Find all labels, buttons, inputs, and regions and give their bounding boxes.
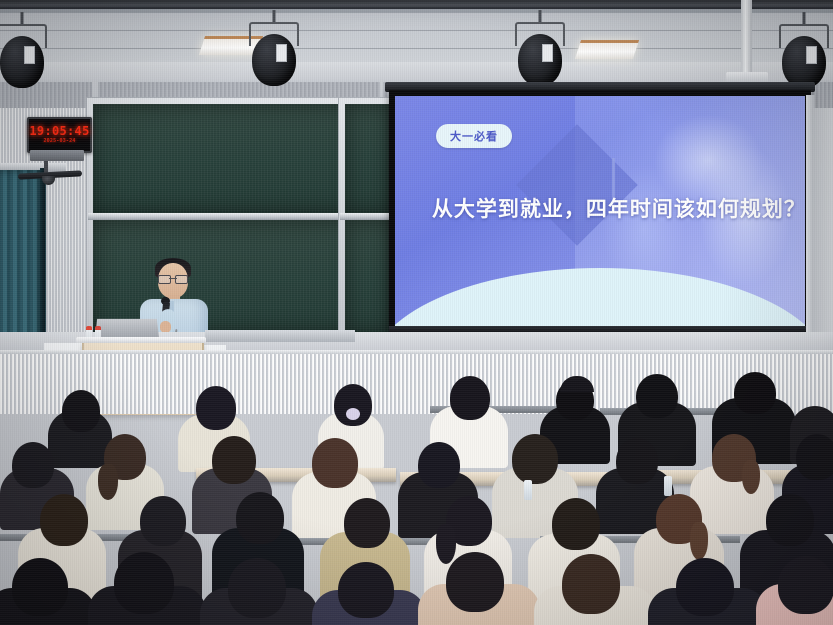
blackboard-middle-rail-left (88, 213, 358, 220)
slide-surface: 大一必看 从大学到就业，四年时间该如何规划？ (395, 96, 805, 326)
audience-head (766, 494, 814, 546)
stage-spotlight-1 (0, 36, 44, 88)
audience-head (114, 552, 174, 614)
eyeglasses-icon (158, 275, 188, 282)
audience-head (778, 556, 833, 614)
audience-head (562, 554, 620, 614)
audience-head (344, 498, 390, 548)
led-wall-clock: 19:05:45 2025-03-24 (27, 117, 92, 153)
ceiling-seam (0, 48, 833, 49)
slide-title: 从大学到就业，四年时间该如何规划？ (432, 193, 785, 223)
audience-head (446, 552, 504, 612)
audience-head (512, 434, 558, 484)
ponytail (742, 460, 760, 494)
clock-time: 19:05:45 (29, 125, 89, 138)
audience-head (12, 558, 68, 616)
stage-table (205, 330, 355, 342)
blackboard-panel-lower-left (93, 220, 353, 333)
audience-head (636, 374, 678, 418)
audience-head (12, 442, 54, 488)
ceiling-panel-light-2 (575, 40, 639, 59)
audience-head (140, 496, 186, 546)
stage-spotlight-4 (782, 36, 826, 88)
hair-tie (346, 408, 360, 420)
slide-badge: 大一必看 (436, 124, 512, 148)
stage-spotlight-2 (252, 34, 296, 86)
audience-head (796, 434, 833, 480)
audience-head (212, 436, 256, 484)
cap-icon (560, 376, 594, 392)
ceiling-truss-rail (0, 0, 833, 9)
wall-device (30, 150, 84, 161)
ceiling-seam (0, 30, 833, 31)
blackboard-panel-upper-right (345, 104, 391, 213)
audience-head (418, 442, 460, 488)
lecture-hall-photo: 19:05:45 2025-03-24 大一必看 从大学到就业，四年时间该如何规… (0, 0, 833, 625)
audience-head (552, 498, 600, 550)
stage-spotlight-3 (518, 34, 562, 86)
projector-pole (741, 0, 752, 76)
audience-head (62, 390, 100, 432)
blackboard-middle-rail-right (340, 213, 394, 220)
audience-head (450, 376, 490, 420)
audience-head (312, 438, 358, 488)
audience (0, 372, 833, 625)
water-bottle (664, 476, 672, 496)
projection-screen: 大一必看 从大学到就业，四年时间该如何规划？ (389, 90, 811, 332)
audience-head (40, 494, 88, 546)
audience-head (236, 492, 284, 544)
blackboard-panel-lower-right (345, 220, 391, 333)
graduation-cap-icon (534, 142, 666, 238)
clock-date: 2025-03-24 (43, 138, 75, 145)
audience-head (196, 386, 236, 430)
audience-head (338, 562, 394, 618)
ceiling-rail-under (0, 9, 833, 13)
water-bottle (524, 480, 532, 500)
blackboard-panel-upper-left (93, 104, 353, 213)
audience-head (676, 558, 734, 616)
wall-band (0, 62, 833, 80)
audience-head (228, 558, 286, 618)
audience-head (616, 438, 658, 484)
ponytail (98, 464, 118, 500)
audience-head (734, 372, 776, 414)
ponytail (436, 524, 456, 564)
ponytail (690, 522, 708, 560)
